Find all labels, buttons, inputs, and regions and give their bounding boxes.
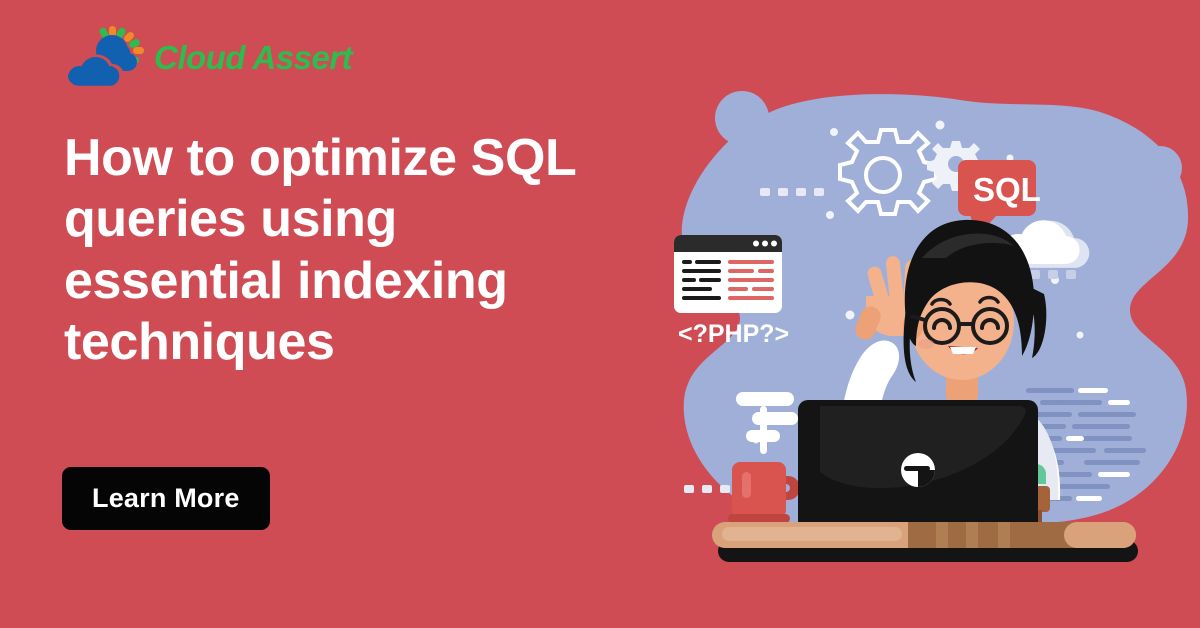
- brand-name: Cloud Assert: [154, 41, 352, 74]
- sql-label: SQL: [973, 171, 1041, 208]
- desk: [712, 522, 1138, 562]
- php-code-window: [674, 235, 782, 313]
- learn-more-button[interactable]: Learn More: [62, 467, 270, 530]
- cloud-sun-icon: [62, 26, 148, 88]
- laptop-logo-icon: [901, 453, 935, 487]
- brand-logo[interactable]: Cloud Assert: [62, 26, 352, 88]
- hero-illustration: <?PHP?> SQL: [660, 70, 1200, 590]
- developer-at-desk-illustration: <?PHP?> SQL: [660, 70, 1200, 590]
- laptop: [786, 400, 1050, 536]
- php-label: <?PHP?>: [678, 320, 789, 348]
- banner: Cloud Assert How to optimize SQL queries…: [0, 0, 1200, 628]
- page-title: How to optimize SQL queries using essent…: [64, 128, 624, 373]
